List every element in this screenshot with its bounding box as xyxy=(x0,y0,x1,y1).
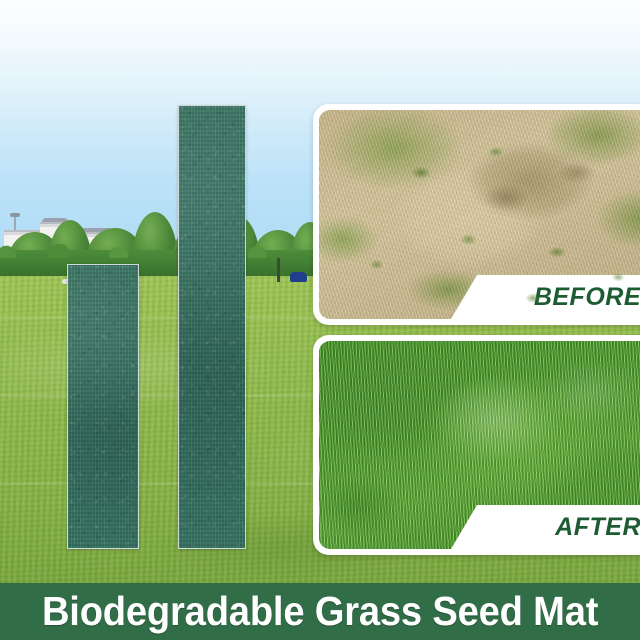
after-photo-card: AFTER xyxy=(313,335,640,555)
blue-car xyxy=(290,272,307,282)
seed-mat-short[interactable] xyxy=(67,264,139,549)
after-label-ribbon: AFTER xyxy=(451,505,640,549)
before-photo: BEFORE xyxy=(319,110,640,319)
after-label: AFTER xyxy=(555,513,640,542)
product-poster: BEFORE AFTER Biodegradable Grass Seed Ma… xyxy=(0,0,640,640)
product-title: Biodegradable Grass Seed Mat xyxy=(42,591,598,632)
after-photo: AFTER xyxy=(319,341,640,549)
before-label: BEFORE xyxy=(534,283,640,312)
before-photo-card: BEFORE xyxy=(313,104,640,325)
before-label-ribbon: BEFORE xyxy=(451,275,640,319)
field-post xyxy=(277,258,280,282)
seed-mat-tall[interactable] xyxy=(178,105,246,549)
product-title-banner: Biodegradable Grass Seed Mat xyxy=(0,583,640,640)
